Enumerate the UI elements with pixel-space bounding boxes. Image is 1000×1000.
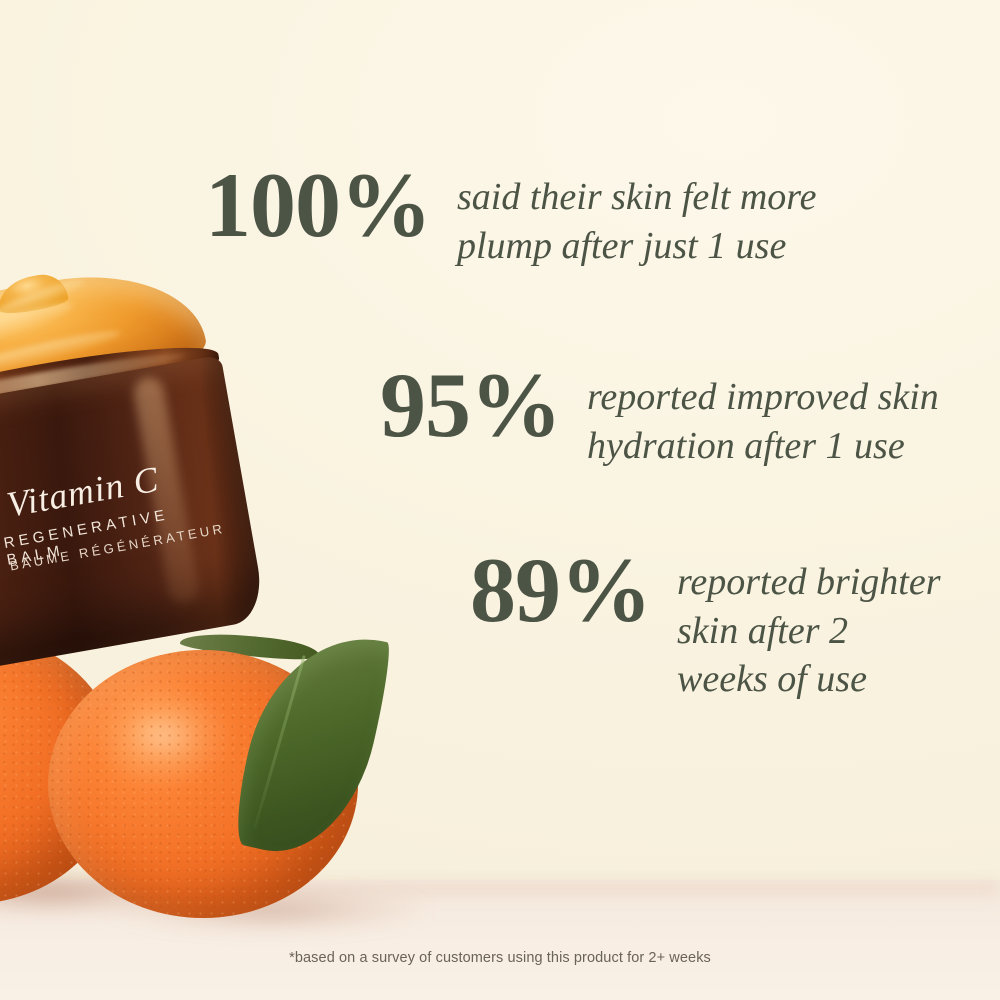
stat-percent-1: 100% [205, 163, 431, 248]
stat-percent-3: 89% [470, 548, 651, 633]
stat-block-1: 100% said their skin felt more plump aft… [205, 163, 962, 270]
stat-text-2-line-2: hydration after 1 use [587, 422, 987, 471]
stat-text-3-line-1: reported brighter [677, 558, 977, 607]
statistics-group: 100% said their skin felt more plump aft… [0, 0, 1000, 1000]
stat-text-3-line-3: weeks of use [677, 655, 977, 704]
stat-text-3-line-2: skin after 2 [677, 607, 977, 656]
stat-text-1-line-2: plump after just 1 use [457, 222, 962, 271]
stat-percent-2: 95% [380, 363, 561, 448]
stat-text-2-line-1: reported improved skin [587, 373, 987, 422]
footnote-disclaimer: *based on a survey of customers using th… [0, 950, 1000, 966]
stat-text-2: reported improved skin hydration after 1… [561, 363, 987, 470]
stat-text-3: reported brighter skin after 2 weeks of … [651, 548, 977, 704]
stat-text-1-line-1: said their skin felt more [457, 176, 817, 218]
marketing-image: RA Vitamin C REGENERATIVE BALM BAUME RÉG… [0, 0, 1000, 1000]
stat-block-2: 95% reported improved skin hydration aft… [380, 363, 987, 470]
stat-text-1: said their skin felt more plump after ju… [431, 163, 962, 270]
stat-block-3: 89% reported brighter skin after 2 weeks… [470, 548, 977, 704]
